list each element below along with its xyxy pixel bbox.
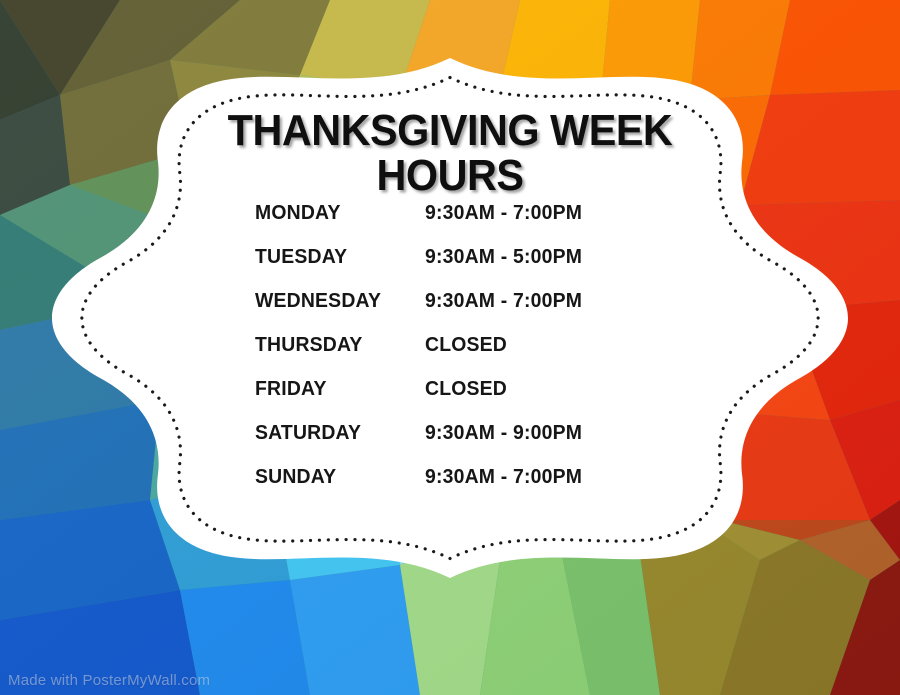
- hours-value: 9:30AM - 5:00PM: [425, 246, 668, 269]
- hours-value: CLOSED: [425, 378, 668, 401]
- title-line-1: THANKSGIVING WEEK: [168, 108, 732, 153]
- day-label: TUESDAY: [255, 246, 420, 269]
- day-label: FRIDAY: [255, 378, 420, 401]
- schedule-row: FRIDAY CLOSED: [255, 378, 675, 422]
- schedule-row: WEDNESDAY 9:30AM - 7:00PM: [255, 290, 675, 334]
- schedule-row: MONDAY 9:30AM - 7:00PM: [255, 202, 675, 246]
- poster-canvas: THANKSGIVING WEEK HOURS MONDAY 9:30AM - …: [0, 0, 900, 695]
- day-label: SATURDAY: [255, 422, 420, 445]
- hours-value: 9:30AM - 7:00PM: [425, 466, 668, 489]
- schedule-row: THURSDAY CLOSED: [255, 334, 675, 378]
- poster-content: THANKSGIVING WEEK HOURS MONDAY 9:30AM - …: [0, 0, 900, 695]
- hours-value: 9:30AM - 7:00PM: [425, 290, 668, 313]
- day-label: MONDAY: [255, 202, 420, 225]
- hours-value: 9:30AM - 7:00PM: [425, 202, 668, 225]
- schedule-row: SATURDAY 9:30AM - 9:00PM: [255, 422, 675, 466]
- postermywall-watermark: Made with PosterMyWall.com: [8, 672, 210, 689]
- hours-value: 9:30AM - 9:00PM: [425, 422, 668, 445]
- schedule-row: SUNDAY 9:30AM - 7:00PM: [255, 466, 675, 510]
- schedule-row: TUESDAY 9:30AM - 5:00PM: [255, 246, 675, 290]
- hours-value: CLOSED: [425, 334, 668, 357]
- day-label: THURSDAY: [255, 334, 420, 357]
- day-label: WEDNESDAY: [255, 290, 420, 313]
- poster-title: THANKSGIVING WEEK HOURS: [150, 108, 750, 198]
- day-label: SUNDAY: [255, 466, 420, 489]
- title-line-2: HOURS: [168, 153, 732, 198]
- hours-schedule: MONDAY 9:30AM - 7:00PM TUESDAY 9:30AM - …: [255, 202, 675, 510]
